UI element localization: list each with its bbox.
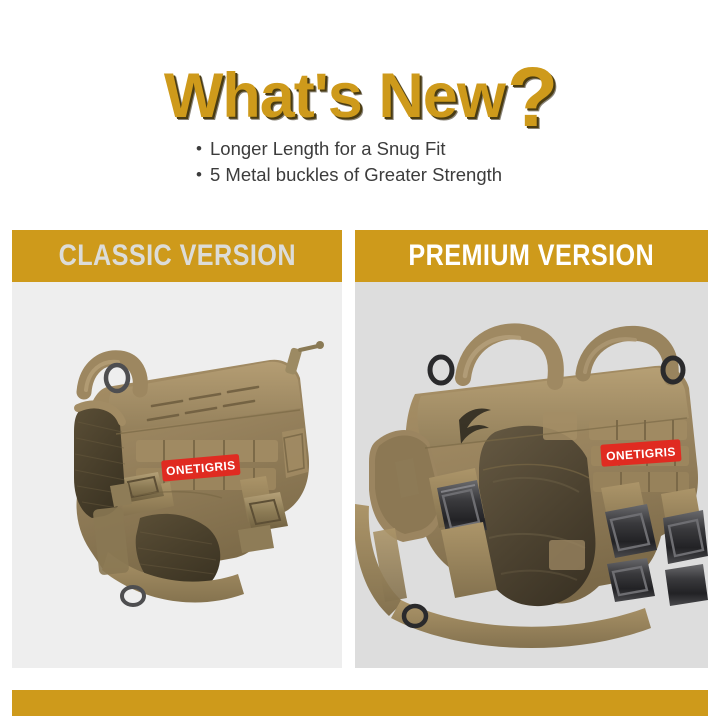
feature-list: • Longer Length for a Snug Fit • 5 Metal…: [196, 137, 616, 189]
d-ring-top-front: [430, 357, 452, 383]
list-item: • Longer Length for a Snug Fit: [196, 137, 616, 160]
velcro-tab-upper: [543, 412, 577, 440]
list-item-label: 5 Metal buckles of Greater Strength: [210, 163, 502, 186]
banner-premium-version: PREMIUM VERSION: [355, 230, 708, 282]
list-item-label: Longer Length for a Snug Fit: [210, 137, 446, 160]
classic-harness-illustration: ONETIGRIS: [12, 282, 342, 668]
footer-accent-bar: [12, 690, 708, 716]
bullet-icon: •: [196, 137, 210, 160]
banner-classic-label: CLASSIC VERSION: [58, 239, 295, 273]
leash-clip: [285, 341, 324, 375]
premium-harness-illustration: ONETIGRIS: [355, 282, 708, 668]
question-mark-glyph: ?: [507, 50, 558, 144]
metal-buckle-rear-outer: [663, 510, 708, 564]
bullet-icon: •: [196, 163, 210, 186]
page-title-text: What's New: [164, 61, 505, 131]
belly-strap: [391, 600, 651, 648]
metal-buckle-bottom: [607, 558, 655, 602]
d-ring-bottom: [122, 587, 144, 605]
list-item: • 5 Metal buckles of Greater Strength: [196, 163, 616, 186]
inner-lining-panel: [479, 426, 595, 606]
product-photo-premium: ONETIGRIS: [355, 282, 708, 668]
page-title: What's New?: [0, 40, 720, 114]
metal-buckle-bottom-outer: [665, 564, 708, 606]
velcro-tab-lower: [549, 540, 585, 570]
product-photo-classic: ONETIGRIS: [12, 282, 342, 668]
banner-classic-version: CLASSIC VERSION: [12, 230, 342, 282]
banner-premium-label: PREMIUM VERSION: [409, 239, 655, 273]
